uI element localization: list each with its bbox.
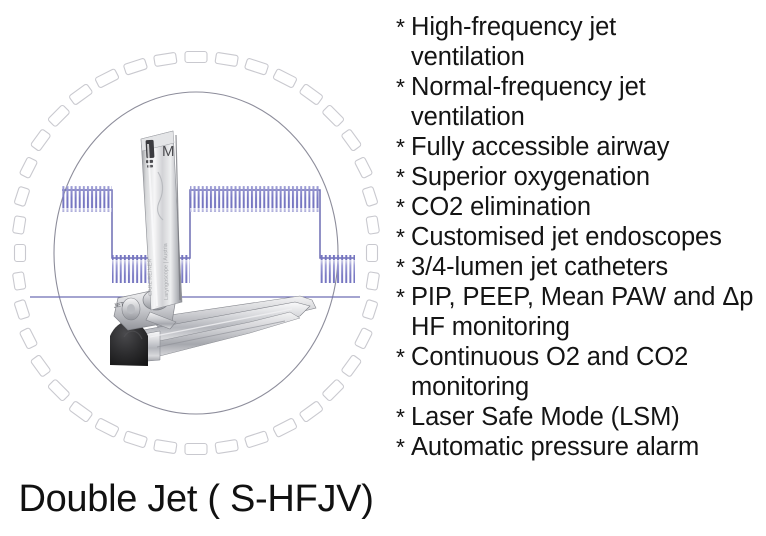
slide-canvas: JET M CARL REINER Laryngoscope | Austria [0, 0, 766, 536]
feature-text: Normal-frequency jet ventilation [411, 72, 764, 132]
feature-text: PIP, PEEP, Mean PAW and Δp HF monitoring [411, 282, 764, 342]
bullet-asterisk: * [396, 252, 411, 282]
list-item: * High-frequency jet ventilation [396, 12, 764, 72]
device-handle: M CARL REINER Laryngoscope | Austria [141, 131, 182, 310]
list-item: * Laser Safe Mode (LSM) [396, 402, 764, 432]
svg-text:Laryngoscope | Austria: Laryngoscope | Austria [163, 242, 170, 300]
svg-text:CARL REINER: CARL REINER [147, 259, 154, 297]
feature-text: Continuous O2 and CO2 monitoring [411, 342, 764, 402]
hf-burst-1 [62, 186, 112, 212]
bullet-asterisk: * [396, 402, 411, 432]
pressure-waveform [30, 186, 360, 297]
feature-text: Laser Safe Mode (LSM) [411, 402, 764, 432]
device-size-mark: M [162, 143, 175, 160]
list-item: * 3/4-lumen jet catheters [396, 252, 764, 282]
bullet-asterisk: * [396, 432, 411, 462]
feature-text: CO2 elimination [411, 192, 764, 222]
bullet-asterisk: * [396, 342, 411, 372]
bullet-asterisk: * [396, 72, 411, 102]
hf-burst-4 [320, 255, 355, 283]
bullet-asterisk: * [396, 162, 411, 192]
bullet-asterisk: * [396, 12, 411, 42]
list-item: * Customised jet endoscopes [396, 222, 764, 252]
jet-laryngoscope-device: JET M CARL REINER Laryngoscope | Austria [110, 131, 316, 366]
list-item: * Fully accessible airway [396, 132, 764, 162]
dashed-ring [12, 52, 379, 455]
feature-text: High-frequency jet ventilation [411, 12, 764, 72]
feature-text: Customised jet endoscopes [411, 222, 764, 252]
feature-list: * High-frequency jet ventilation * Norma… [396, 12, 764, 462]
bullet-asterisk: * [396, 282, 411, 312]
bullet-asterisk: * [396, 192, 411, 222]
product-illustration: JET M CARL REINER Laryngoscope | Austria [0, 0, 392, 472]
feature-text: Fully accessible airway [411, 132, 764, 162]
list-item: * PIP, PEEP, Mean PAW and Δp HF monitori… [396, 282, 764, 342]
list-item: * Normal-frequency jet ventilation [396, 72, 764, 132]
bullet-asterisk: * [396, 222, 411, 252]
feature-text: 3/4-lumen jet catheters [411, 252, 764, 282]
list-item: * Superior oxygenation [396, 162, 764, 192]
list-item: * Continuous O2 and CO2 monitoring [396, 342, 764, 402]
page-title: Double Jet ( S-HFJV) [0, 473, 392, 525]
list-item: * Automatic pressure alarm [396, 432, 764, 462]
bullet-asterisk: * [396, 132, 411, 162]
feature-text: Automatic pressure alarm [411, 432, 764, 462]
inner-circle [54, 92, 338, 414]
list-item: * CO2 elimination [396, 192, 764, 222]
hf-burst-3 [190, 186, 320, 212]
feature-text: Superior oxygenation [411, 162, 764, 192]
